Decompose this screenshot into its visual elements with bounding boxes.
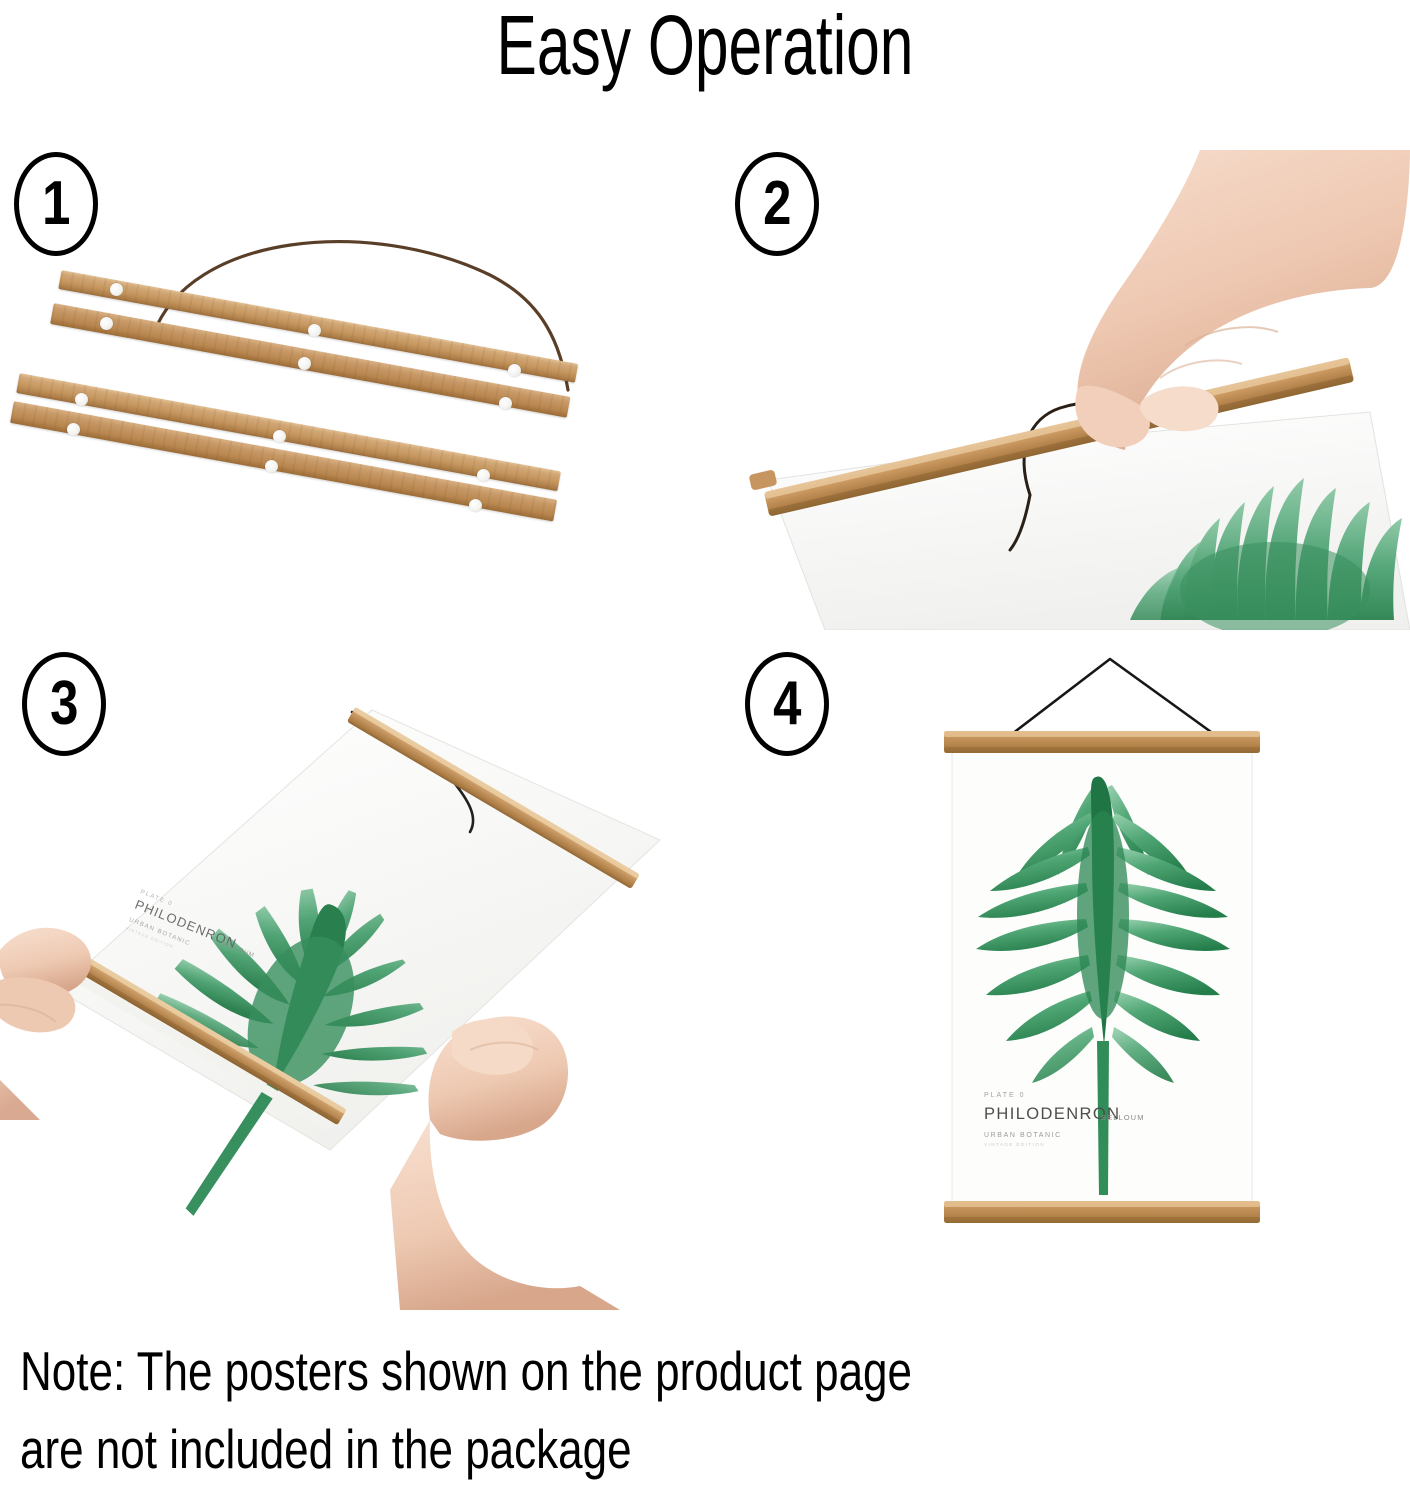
- magnet-dot: [273, 430, 286, 443]
- magnet-dot: [308, 324, 321, 337]
- page-title: Easy Operation: [197, 2, 1212, 88]
- step-4-illustration: PLATE 0 PHILODENRON SELLOUM URBAN BOTANI…: [930, 645, 1330, 1275]
- caption-plate: PLATE 0: [984, 1092, 1026, 1099]
- magnet-dot: [298, 357, 311, 370]
- step-number-4: 4: [773, 673, 801, 735]
- step-badge-4: 4: [745, 652, 829, 756]
- magnet-dot: [508, 364, 521, 377]
- magnet-dot: [469, 499, 482, 512]
- step-3-illustration: PLATE 0 PHILODENRON SELLOUM URBAN BOTANI…: [0, 650, 700, 1310]
- hanging-cord-step1: [40, 215, 660, 555]
- hanging-cord-step4: [1008, 659, 1218, 737]
- hand-left-holding-rail: [0, 928, 91, 1120]
- note-line-2: are not included in the package: [20, 1410, 1124, 1488]
- caption-subtitle2: VINTAGE EDITION: [984, 1142, 1045, 1148]
- magnet-dot: [110, 283, 123, 296]
- magnet-dot: [100, 317, 113, 330]
- caption-name: PHILODENRON: [984, 1105, 1120, 1123]
- step-1-illustration: [40, 215, 660, 555]
- magnet-dot: [67, 423, 80, 436]
- frame-rail-top-step4: [944, 731, 1260, 753]
- frame-rail-bottom-step4: [944, 1201, 1260, 1223]
- magnet-dot: [265, 460, 278, 473]
- magnet-dot: [499, 397, 512, 410]
- note-line-1: Note: The posters shown on the product p…: [20, 1332, 1124, 1410]
- caption-species: SELLOUM: [1101, 1113, 1145, 1122]
- caption-subtitle: URBAN BOTANIC: [984, 1132, 1062, 1139]
- magnet-dot: [477, 469, 490, 482]
- magnet-dot: [75, 393, 88, 406]
- note-text: Note: The posters shown on the product p…: [20, 1332, 1124, 1488]
- step-2-illustration: [730, 150, 1410, 630]
